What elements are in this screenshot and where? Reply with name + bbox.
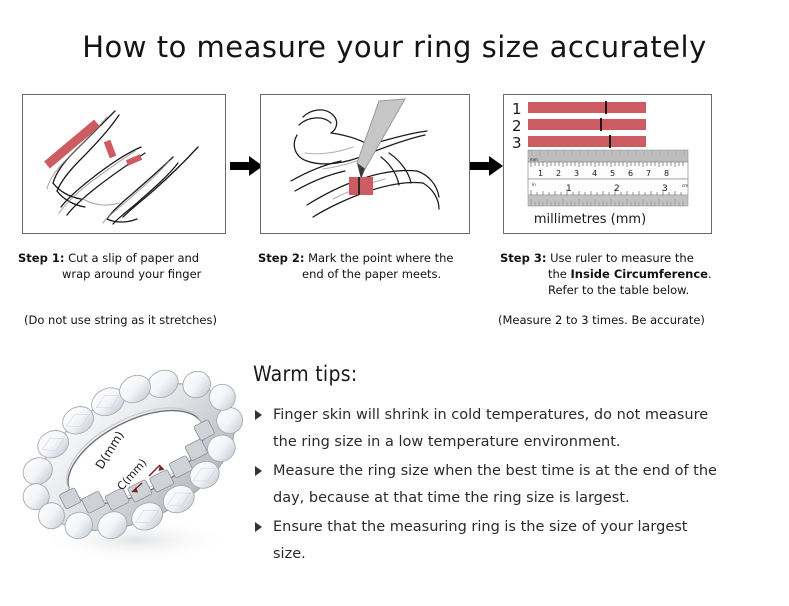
step-3-line2-end: . xyxy=(708,267,712,281)
svg-text:6: 6 xyxy=(628,169,633,178)
step-2-illustration-panel xyxy=(260,94,470,234)
step-1-label: Step 1: xyxy=(18,251,64,265)
step-2-line2: end of the paper meets. xyxy=(258,266,490,282)
warm-tip-text: Ensure that the measuring ring is the si… xyxy=(273,519,688,562)
paper-strip-end xyxy=(127,157,141,163)
paper-strip-loose xyxy=(47,123,97,165)
step-3-caption: Step 3: Use ruler to measure the the Ins… xyxy=(500,250,750,298)
svg-text:2: 2 xyxy=(556,169,561,178)
svg-text:mm: mm xyxy=(530,157,538,162)
step-1-line1: Cut a slip of paper and xyxy=(68,251,199,265)
svg-text:1: 1 xyxy=(538,169,543,178)
warm-tip-item: Ensure that the measuring ring is the si… xyxy=(253,514,723,568)
step-1-caption: Step 1: Cut a slip of paper and wrap aro… xyxy=(18,250,250,282)
paper-strip-1 xyxy=(528,102,646,113)
paper-strip-3 xyxy=(528,136,646,147)
arrow-right-icon-2 xyxy=(470,155,504,177)
arrow-right-icon-1 xyxy=(230,155,264,177)
page-title: How to measure your ring size accurately xyxy=(0,30,789,64)
step-3-label: Step 3: xyxy=(500,251,546,265)
strip-number-3: 3 xyxy=(512,134,522,152)
step-3-line2: the Inside Circumference. xyxy=(500,266,750,282)
step-3-note: (Measure 2 to 3 times. Be accurate) xyxy=(498,313,705,327)
step-3-emphasis: Inside Circumference xyxy=(571,267,708,281)
paper-strip-2 xyxy=(528,119,646,130)
triangle-bullet-icon xyxy=(255,522,262,532)
paper-strip-on-finger xyxy=(349,177,373,195)
warm-tips-section: Warm tips: Finger skin will shrink in co… xyxy=(253,362,773,570)
warm-tips-heading: Warm tips: xyxy=(253,362,773,386)
step-2-label: Step 2: xyxy=(258,251,304,265)
step-3-illustration-panel: 1 2 3 mm 1 xyxy=(503,94,712,234)
warm-tip-text: Finger skin will shrink in cold temperat… xyxy=(273,407,708,450)
ruler-unit-label: millimetres (mm) xyxy=(534,212,646,227)
step-3-line3: Refer to the table below. xyxy=(500,282,750,298)
paper-strip-wrapped xyxy=(107,141,113,157)
strip-number-1: 1 xyxy=(512,100,522,118)
warm-tip-item: Measure the ring size when the best time… xyxy=(253,458,723,512)
step-1-line2: wrap around your finger xyxy=(18,266,250,282)
svg-text:in: in xyxy=(532,182,536,187)
ring-diagram: D(mm) C(mm) xyxy=(18,352,253,577)
eternity-ring-icon: D(mm) C(mm) xyxy=(18,352,253,577)
svg-text:5: 5 xyxy=(610,169,615,178)
svg-text:8: 8 xyxy=(664,169,669,178)
triangle-bullet-icon xyxy=(255,410,262,420)
warm-tip-text: Measure the ring size when the best time… xyxy=(273,463,717,506)
warm-tip-item: Finger skin will shrink in cold temperat… xyxy=(253,402,723,456)
infographic-page: How to measure your ring size accurately xyxy=(0,0,789,606)
step-3-line2-prefix: the xyxy=(548,267,571,281)
hand-with-paper-strip-icon xyxy=(23,95,226,234)
strip-number-2: 2 xyxy=(512,117,522,135)
ruler: mm 1 2 3 4 5 6 7 8 in 1 2 3 cm xyxy=(528,150,688,206)
triangle-bullet-icon xyxy=(255,466,262,476)
hand-with-pen-marking-icon xyxy=(261,95,470,234)
step-3-line1: Use ruler to measure the xyxy=(550,251,694,265)
svg-text:3: 3 xyxy=(574,169,579,178)
step-1-note: (Do not use string as it stretches) xyxy=(24,313,217,327)
step-1-illustration-panel xyxy=(22,94,226,234)
svg-text:4: 4 xyxy=(592,169,597,178)
svg-text:7: 7 xyxy=(646,169,651,178)
step-2-line1: Mark the point where the xyxy=(308,251,453,265)
svg-text:cm: cm xyxy=(682,183,688,188)
ruler-with-paper-strips-icon: 1 2 3 mm 1 xyxy=(504,95,712,234)
step-2-caption: Step 2: Mark the point where the end of … xyxy=(258,250,490,282)
